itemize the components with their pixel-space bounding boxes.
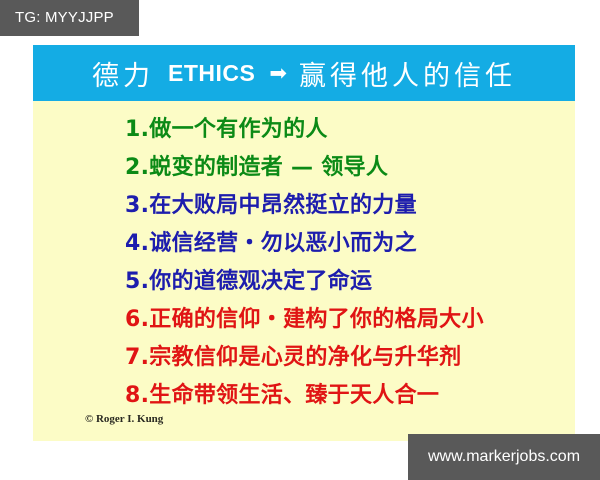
header-band: 德力 ETHICS ➡ 赢得他人的信任 [33,45,575,101]
list-item: 7.宗教信仰是心灵的净化与升华剂 [33,339,575,377]
header-subtitle-chinese: 赢得他人的信任 [299,54,516,93]
list-item: 6.正确的信仰・建构了你的格局大小 [33,301,575,339]
list-item: 5.你的道德观决定了命运 [33,263,575,301]
header-title-chinese: 德力 [92,54,154,93]
tag-badge: TG: MYYJJPP [0,0,139,36]
header-title-english: ETHICS [168,60,255,87]
site-watermark: www.markerjobs.com [408,434,600,480]
list-item: 2.蜕变的制造者 — 领导人 [33,149,575,187]
ethics-list: 1.做一个有作为的人 2.蜕变的制造者 — 领导人 3.在大败局中昂然挺立的力量… [33,101,575,415]
list-item: 1.做一个有作为的人 [33,111,575,149]
copyright-notice: © Roger I. Kung [85,413,163,425]
right-arrow-icon: ➡ [269,63,287,84]
list-item: 3.在大败局中昂然挺立的力量 [33,187,575,225]
list-item: 8.生命带领生活、臻于天人合一 [33,377,575,415]
slide-card: 德力 ETHICS ➡ 赢得他人的信任 1.做一个有作为的人 2.蜕变的制造者 … [33,45,575,441]
header-title-group: 德力 ETHICS ➡ 赢得他人的信任 [92,54,516,93]
list-item: 4.诚信经营・勿以恶小而为之 [33,225,575,263]
